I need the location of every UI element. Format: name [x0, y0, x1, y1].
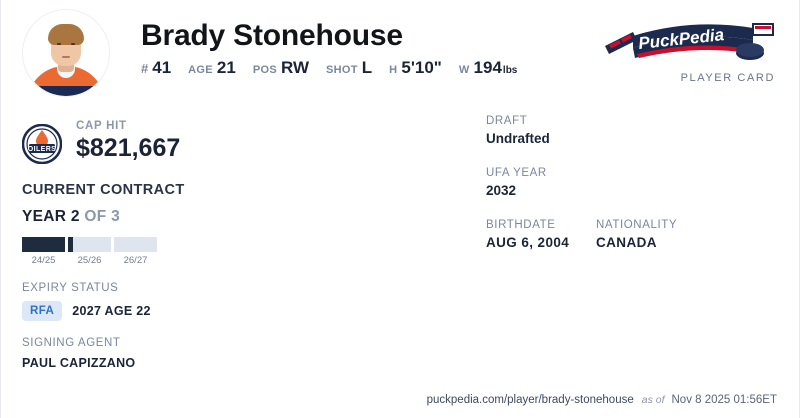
signing-agent-name: PAUL CAPIZZANO [22, 356, 282, 370]
card-header: Brady Stonehouse # 41 AGE 21 POS RW SHOT… [1, 0, 799, 104]
footer-as-of-label: as of [642, 394, 665, 406]
jersey-navy-band [23, 86, 109, 96]
stat-position: POS RW [253, 58, 309, 78]
stat-position-label: POS [253, 64, 277, 76]
eye-right [71, 43, 75, 45]
svg-text:OILERS: OILERS [28, 146, 56, 153]
status-badge[interactable]: RFA [22, 301, 62, 321]
card-body: OILERS CAP HIT $821,667 CURRENT CONTRACT… [1, 104, 799, 384]
stat-weight: W 194 lbs [459, 58, 518, 78]
birthdate-field: BIRTHDATE AUG 6, 2004 [486, 219, 596, 250]
cap-hit-row: OILERS CAP HIT $821,667 [22, 120, 282, 164]
cap-hit-text: CAP HIT $821,667 [76, 120, 180, 163]
stat-shot-value: L [362, 58, 372, 78]
progress-label-3: 26/27 [114, 255, 157, 266]
details-column: DRAFT Undrafted UFA YEAR 2032 BIRTHDATE … [486, 115, 766, 250]
avatar [22, 9, 110, 97]
contract-year-line: YEAR 2 OF 3 [22, 208, 282, 226]
stat-age-label: AGE [188, 64, 213, 76]
stat-age-value: 21 [217, 58, 236, 78]
expiry-status-row: RFA 2027 AGE 22 [22, 301, 282, 321]
brand-block[interactable]: PuckPedia PLAYER CARD [603, 16, 775, 84]
stat-weight-value: 194 [474, 58, 502, 78]
player-identity: Brady Stonehouse # 41 AGE 21 POS RW SHOT… [141, 18, 517, 78]
expiry-status-label: EXPIRY STATUS [22, 282, 282, 294]
ufa-year-value: 2032 [486, 183, 766, 198]
contract-progress-bar [22, 237, 157, 252]
ufa-year-label: UFA YEAR [486, 167, 766, 179]
progress-labels: 24/25 25/26 26/27 [22, 255, 157, 266]
contract-year-total: OF 3 [84, 208, 120, 225]
card-footer: puckpedia.com/player/brady-stonehouse as… [427, 394, 777, 406]
nationality-value: CANADA [596, 235, 677, 250]
ufa-year-field: UFA YEAR 2032 [486, 167, 766, 198]
footer-as-of-date: Nov 8 2025 01:56ET [672, 394, 778, 406]
progress-segment-2-fill [68, 237, 73, 252]
birthdate-label: BIRTHDATE [486, 219, 596, 231]
stat-age: AGE 21 [188, 58, 236, 78]
signing-agent-label: SIGNING AGENT [22, 337, 282, 349]
draft-field: DRAFT Undrafted [486, 115, 766, 146]
stat-weight-label: W [459, 64, 470, 76]
brand-subtitle: PLAYER CARD [603, 72, 775, 84]
stat-number-label: # [141, 61, 148, 76]
progress-label-1: 24/25 [22, 255, 65, 266]
draft-value: Undrafted [486, 131, 766, 146]
progress-label-2: 25/26 [68, 255, 111, 266]
stat-position-value: RW [281, 58, 309, 78]
headshot-image [23, 10, 109, 96]
footer-url[interactable]: puckpedia.com/player/brady-stonehouse [427, 394, 634, 406]
puckpedia-logo-icon: PuckPedia [603, 16, 775, 68]
birthdate-value: AUG 6, 2004 [486, 235, 596, 250]
stat-number-value: 41 [152, 58, 171, 78]
progress-segment-2 [68, 237, 111, 252]
stat-shot-label: SHOT [326, 64, 358, 76]
player-card: Brady Stonehouse # 41 AGE 21 POS RW SHOT… [0, 0, 800, 418]
eye-left [57, 43, 61, 45]
stat-shot: SHOT L [326, 58, 372, 78]
stat-height-value: 5'10" [401, 58, 441, 78]
stat-height-label: H [389, 64, 397, 76]
draft-label: DRAFT [486, 115, 766, 127]
current-contract-title: CURRENT CONTRACT [22, 182, 282, 198]
birth-nationality-row: BIRTHDATE AUG 6, 2004 NATIONALITY CANADA [486, 219, 766, 250]
page-title: Brady Stonehouse [141, 18, 517, 54]
contract-year-current: YEAR 2 [22, 208, 80, 225]
stat-weight-unit: lbs [503, 65, 517, 76]
player-stat-row: # 41 AGE 21 POS RW SHOT L H 5'10" [141, 58, 517, 78]
nationality-label: NATIONALITY [596, 219, 677, 231]
contract-column: OILERS CAP HIT $821,667 CURRENT CONTRACT… [22, 120, 282, 370]
edmonton-oilers-logo-icon: OILERS [22, 124, 62, 164]
stat-height: H 5'10" [389, 58, 442, 78]
nationality-field: NATIONALITY CANADA [596, 219, 677, 250]
cap-hit-label: CAP HIT [76, 120, 180, 132]
mouth [62, 56, 70, 58]
progress-segment-1 [22, 237, 65, 252]
progress-segment-1-fill [22, 237, 65, 252]
stat-number: # 41 [141, 58, 171, 78]
expiry-detail: 2027 AGE 22 [72, 304, 151, 318]
progress-segment-3 [114, 237, 157, 252]
cap-hit-value: $821,667 [76, 133, 180, 163]
hair [48, 24, 84, 45]
